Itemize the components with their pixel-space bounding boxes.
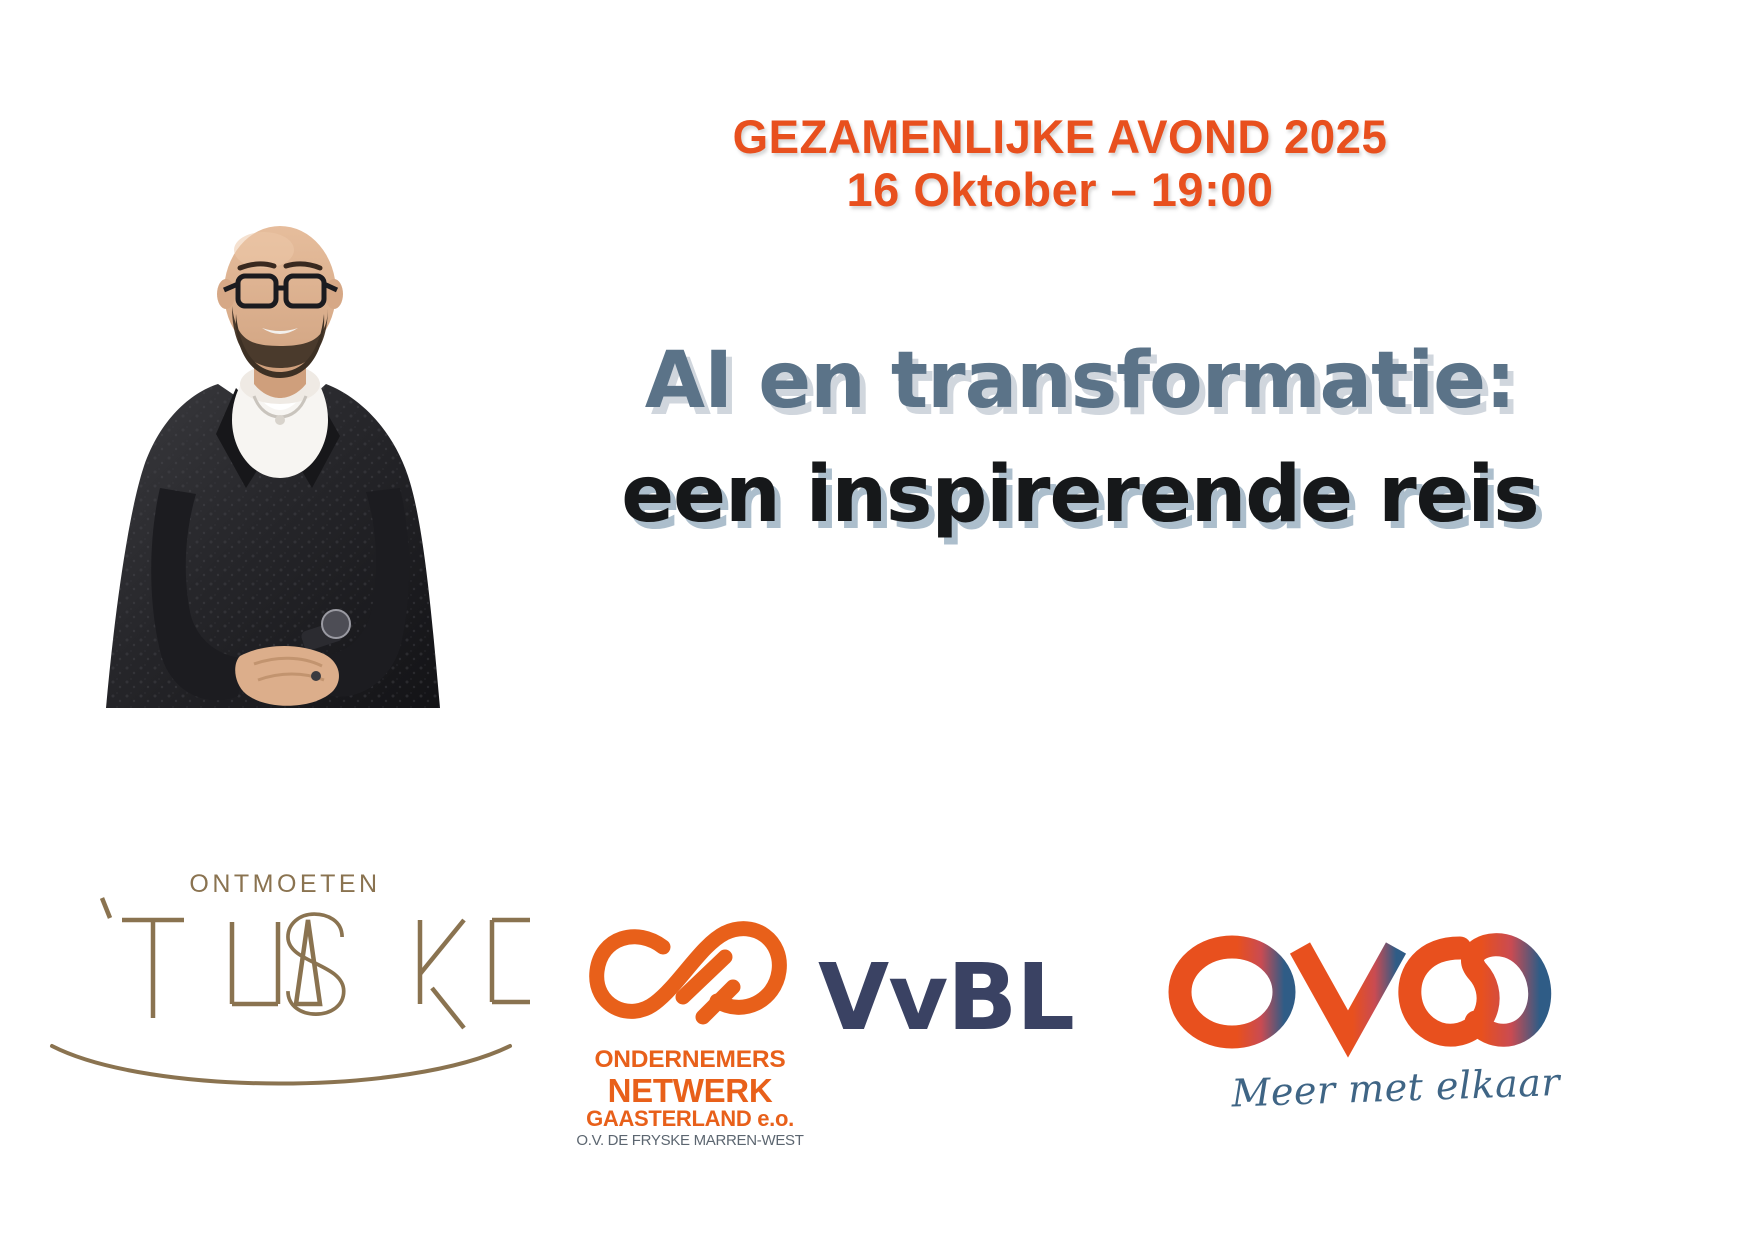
onw-line-2: NETWERK [575, 1074, 805, 1107]
speaker-photo [40, 188, 520, 718]
logo-ondernemers-netwerk: ONDERNEMERS NETWERK GAASTERLAND e.o. O.V… [575, 905, 805, 1155]
onw-text-block: ONDERNEMERS NETWERK GAASTERLAND e.o. O.V… [575, 1048, 805, 1148]
event-title: GEZAMENLIJKE AVOND 2025 [575, 112, 1545, 163]
haske-logo-icon: ONTMOETEN [40, 870, 530, 1100]
speaker-portrait-icon [40, 188, 520, 718]
event-header: GEZAMENLIJKE AVOND 2025 16 Oktober – 19:… [560, 112, 1560, 216]
vvbl-wordmark: VvBL [818, 952, 1118, 1044]
headline-line-2: een inspirerende reis [490, 439, 1670, 553]
onw-line-3: GAASTERLAND e.o. [575, 1108, 805, 1130]
event-poster: GEZAMENLIJKE AVOND 2025 16 Oktober – 19:… [0, 0, 1748, 1240]
logo-haske: ONTMOETEN ONTMOETEN 'T HASKE [40, 870, 530, 1100]
headline-line-1: AI en transformatie: [490, 325, 1670, 439]
onw-line-1: ONDERNEMERS [575, 1048, 805, 1073]
ovo-tagline: Meer met elkaar [1159, 1060, 1560, 1118]
infinity-loop-icon [575, 905, 805, 1045]
logo-vvbl: VvBL [818, 952, 1118, 1062]
logo-ovo: Meer met elkaar ovo [1160, 900, 1560, 1130]
ovo-wordmark-icon [1160, 900, 1560, 1060]
haske-tagline-text: ONTMOETEN [189, 870, 380, 898]
headline: AI en transformatie: een inspirerende re… [490, 325, 1670, 553]
onw-line-4: O.V. DE FRYSKE MARREN-WEST [575, 1133, 805, 1148]
event-datetime: 16 Oktober – 19:00 [560, 165, 1560, 216]
sponsor-logo-strip: ONTMOETEN ONTMOETEN 'T HASKE ONDERNEMERS… [0, 860, 1748, 1240]
